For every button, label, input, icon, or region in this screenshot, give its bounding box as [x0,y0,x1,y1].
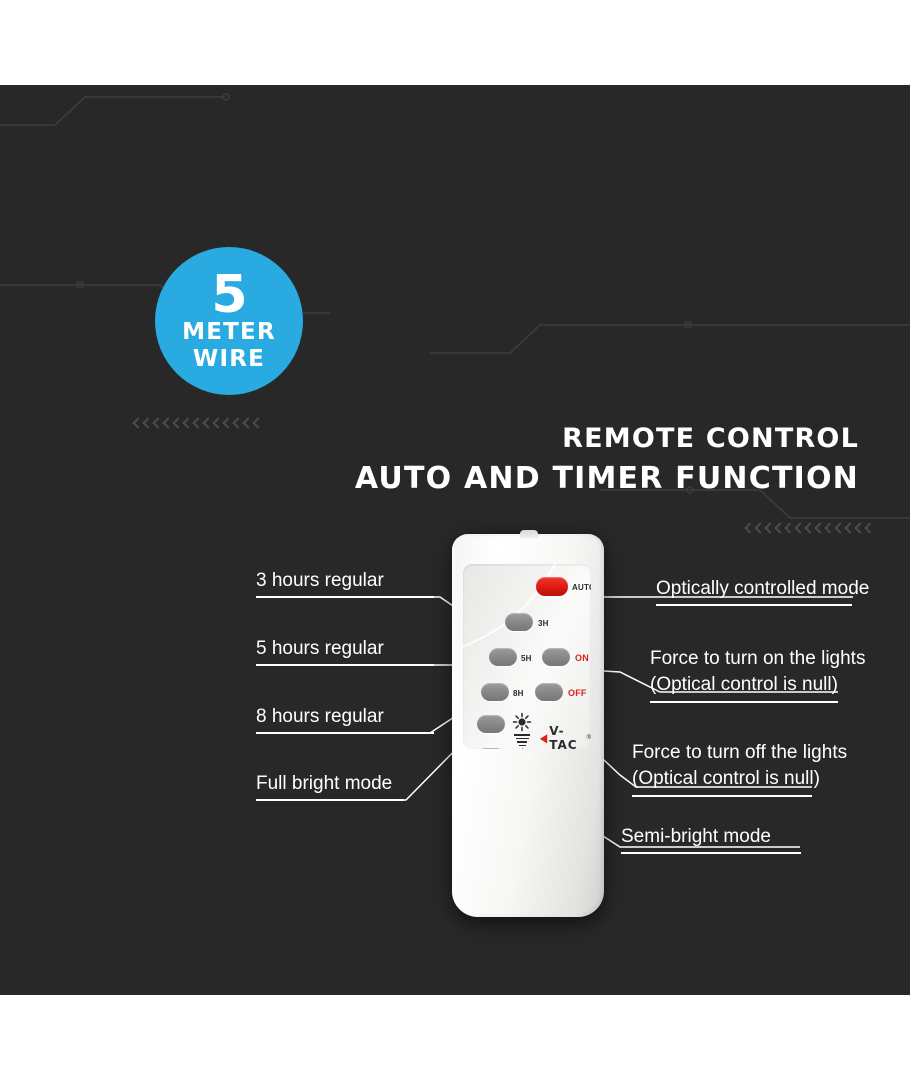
callout-5-hours-text: 5 hours regular [256,638,384,659]
callout-force-off: Force to turn off the lights (Optical co… [632,740,847,797]
callout-semi-bright-rule [621,852,801,854]
vtac-brand-text: V-TAC [549,724,585,749]
callout-force-off-rule [632,795,812,797]
headline-line-2: AUTO AND TIMER FUNCTION [259,458,859,500]
button-semi-bright[interactable] [477,748,505,749]
chevron-row-left [133,418,260,431]
callout-force-on-line-1: Force to turn on the lights [650,646,865,672]
chevron-left-icon [203,418,210,431]
callout-force-on-rule [650,701,838,703]
brightness-scale-icon [514,734,530,746]
chevron-left-icon [213,418,220,431]
button-8h[interactable] [481,683,509,701]
callout-5-hours: 5 hours regular [256,636,434,666]
badge-number: 5 [211,273,246,317]
button-on[interactable] [542,648,570,666]
chevron-left-icon [223,418,230,431]
sun-semi-icon [515,748,530,749]
callout-force-off-line-1: Force to turn off the lights [632,740,847,766]
badge-line-2: WIRE [193,346,265,372]
chevron-left-icon [193,418,200,431]
button-8h-label: 8H [513,689,524,698]
callout-force-on-line-2: (Optical control is null) [650,672,865,698]
button-5h-label: 5H [521,654,532,663]
meter-wire-badge: 5 METER WIRE [155,247,303,395]
sun-full-icon [512,712,532,732]
chevron-left-icon [133,418,140,431]
callout-semi-bright: Semi-bright mode [621,824,801,854]
chevron-left-icon [825,523,832,536]
callout-optical-mode: Optically controlled mode [656,576,869,606]
callout-3-hours-text: 3 hours regular [256,570,384,591]
ir-emitter-nub [520,530,538,538]
chevron-row-right [745,523,872,536]
callout-8-hours: 8 hours regular [256,704,434,734]
callout-full-bright-text: Full bright mode [256,773,392,794]
button-on-label: ON [575,653,589,663]
chevron-left-icon [855,523,862,536]
chevron-left-icon [795,523,802,536]
chevron-left-icon [183,418,190,431]
button-full-bright[interactable] [477,715,505,733]
chevron-left-icon [233,418,240,431]
callout-8-hours-rule [256,732,434,734]
vtac-mark: ◀ [540,733,547,743]
callout-3-hours: 3 hours regular [256,568,434,598]
callout-force-on: Force to turn on the lights (Optical con… [650,646,865,703]
callout-full-bright: Full bright mode [256,771,404,801]
chevron-left-icon [143,418,150,431]
remote-body: AUTO 3H 5H ON 8H OFF [452,534,604,917]
callout-semi-bright-text: Semi-bright mode [621,826,771,847]
page-root: 5 METER WIRE REMOTE CONTROL AUTO AND TIM… [0,0,910,1080]
vtac-registered: ® [587,735,591,741]
chevron-left-icon [153,418,160,431]
headline-block: REMOTE CONTROL AUTO AND TIMER FUNCTION [259,420,859,500]
chevron-left-icon [243,418,250,431]
chevron-left-icon [805,523,812,536]
button-5h[interactable] [489,648,517,666]
button-auto[interactable] [536,577,568,596]
chevron-left-icon [163,418,170,431]
callout-optical-mode-text: Optically controlled mode [656,578,869,599]
button-3h-label: 3H [538,619,549,628]
chevron-left-icon [745,523,752,536]
chevron-left-icon [173,418,180,431]
button-off-label: OFF [568,688,587,698]
button-3h[interactable] [505,613,533,631]
chevron-left-icon [835,523,842,536]
chevron-left-icon [755,523,762,536]
chevron-left-icon [845,523,852,536]
chevron-left-icon [815,523,822,536]
callout-5-hours-rule [256,664,434,666]
callout-8-hours-text: 8 hours regular [256,706,384,727]
callout-3-hours-rule [256,596,434,598]
headline-line-1: REMOTE CONTROL [259,420,859,458]
callout-full-bright-rule [256,799,404,801]
vtac-logo: ◀ V-TAC ® [539,724,591,749]
remote-faceplate: AUTO 3H 5H ON 8H OFF [463,564,591,749]
chevron-left-icon [865,523,872,536]
badge-line-1: METER [182,319,276,346]
callout-force-off-line-2: (Optical control is null) [632,766,847,792]
button-auto-label: AUTO [572,583,591,592]
callout-optical-mode-rule [656,604,852,606]
button-off[interactable] [535,683,563,701]
chevron-left-icon [785,523,792,536]
chevron-left-icon [765,523,772,536]
chevron-left-icon [775,523,782,536]
remote-control-device: AUTO 3H 5H ON 8H OFF [434,524,634,934]
